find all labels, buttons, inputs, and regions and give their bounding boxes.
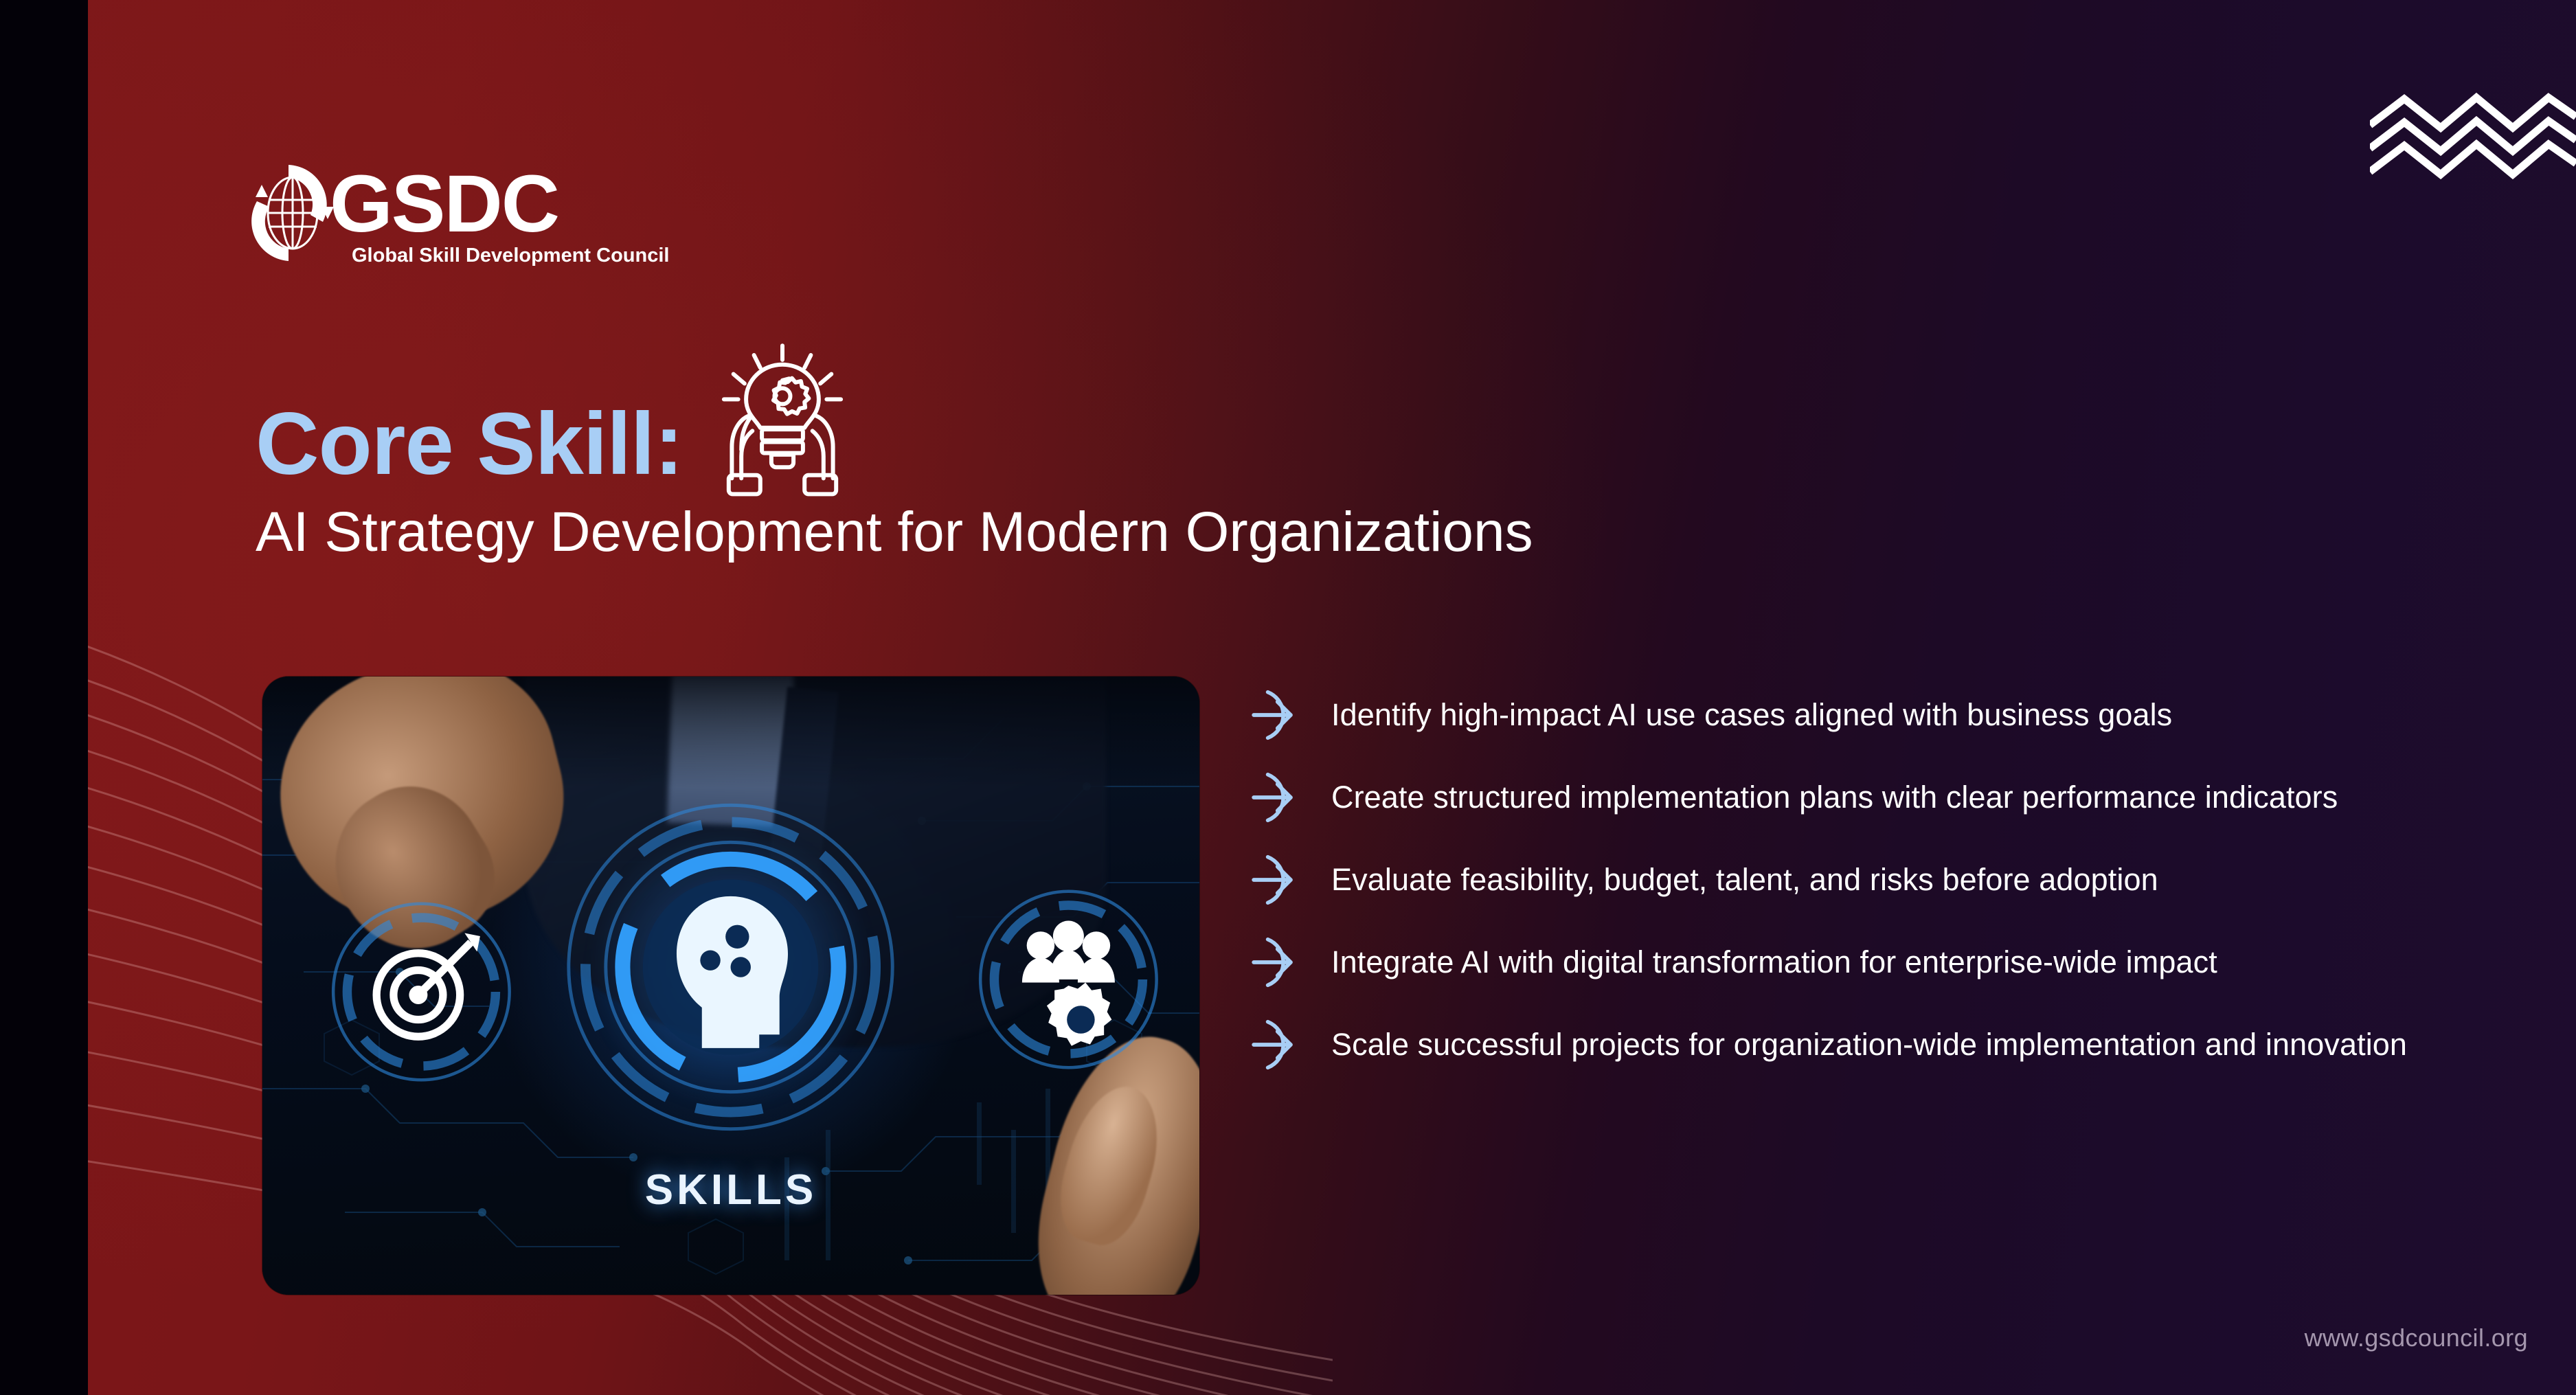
list-item: Scale successful projects for organizati… [1250, 1017, 2459, 1073]
list-item-label: Integrate AI with digital transformation… [1331, 942, 2217, 983]
arrow-right-circle-icon [1250, 769, 1307, 826]
eyebrow-row: Core Skill: [256, 392, 1533, 497]
lightbulb-in-hands-icon [703, 339, 861, 497]
team-gear-icon [975, 887, 1162, 1072]
list-item: Integrate AI with digital transformation… [1250, 934, 2459, 990]
bullet-list: Identify high-impact AI use cases aligne… [1250, 687, 2459, 1073]
left-edge-bar [0, 0, 88, 1395]
list-item-label: Evaluate feasibility, budget, talent, an… [1331, 860, 2158, 900]
zigzag-lines-decor [2370, 82, 2576, 192]
logo-fullname: Global Skill Development Council [352, 245, 669, 266]
list-item-label: Scale successful projects for organizati… [1331, 1025, 2407, 1065]
footer-website-url[interactable]: www.gsdcouncil.org [2305, 1324, 2528, 1352]
logo-acronym: GSDC [330, 159, 558, 249]
page-subtitle: AI Strategy Development for Modern Organ… [256, 503, 1533, 563]
target-icon [328, 899, 515, 1085]
arrow-right-circle-icon [1250, 1017, 1307, 1073]
page-title-eyebrow: Core Skill: [256, 400, 683, 488]
headline-block: Core Skill: [256, 392, 1533, 563]
slide-canvas: GSDC Global Skill Development Council Co… [0, 0, 2576, 1395]
list-item: Create structured implementation plans w… [1250, 769, 2459, 826]
arrow-right-circle-icon [1250, 934, 1307, 990]
arrow-right-circle-icon [1250, 852, 1307, 908]
list-item: Evaluate feasibility, budget, talent, an… [1250, 852, 2459, 908]
photo-caption: SKILLS [262, 1166, 1199, 1214]
arrow-right-circle-icon [1250, 687, 1307, 743]
list-item-label: Identify high-impact AI use cases aligne… [1331, 695, 2172, 736]
list-item-label: Create structured implementation plans w… [1331, 778, 2338, 818]
head-with-gears-icon [562, 794, 899, 1140]
hero-photo-card: SKILLS [262, 677, 1199, 1295]
gsdc-logo[interactable]: GSDC Global Skill Development Council [247, 148, 687, 278]
list-item: Identify high-impact AI use cases aligne… [1250, 687, 2459, 743]
